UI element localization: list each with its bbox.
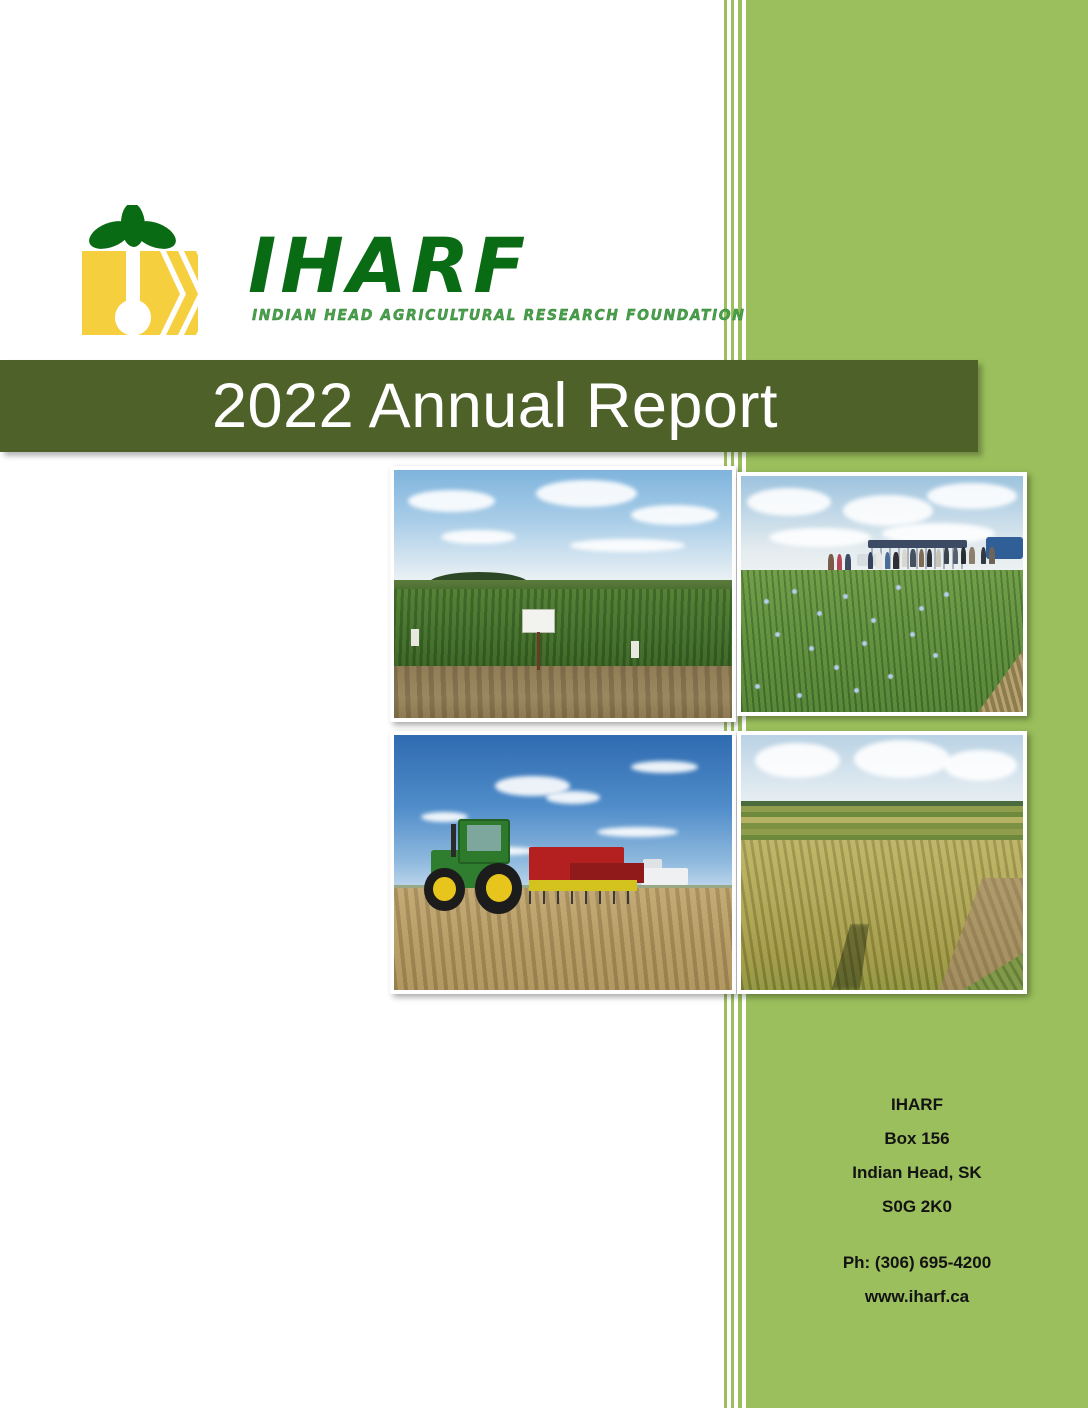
contact-city-province: Indian Head, SK: [760, 1156, 1074, 1190]
contact-postal-code: S0G 2K0: [760, 1190, 1074, 1224]
contact-spacer: [760, 1224, 1074, 1246]
iharf-wordmark: IHARF: [248, 228, 529, 304]
iharf-tagline: INDIAN HEAD AGRICULTURAL RESEARCH FOUNDA…: [252, 306, 746, 324]
contact-block: IHARF Box 156 Indian Head, SK S0G 2K0 Ph…: [760, 1088, 1074, 1314]
contact-organization: IHARF: [760, 1088, 1074, 1122]
contact-po-box: Box 156: [760, 1122, 1074, 1156]
leaf-icon: [85, 205, 180, 254]
contact-website[interactable]: www.iharf.ca: [760, 1280, 1074, 1314]
iharf-logo: IHARF INDIAN HEAD AGRICULTURAL RESEARCH …: [70, 200, 670, 340]
photo-pea-plot-trial: [390, 466, 736, 722]
photo-flax-field-day: [737, 472, 1027, 716]
iharf-logo-mark-icon: [70, 205, 198, 337]
photo-tractor-seeder: [390, 731, 736, 994]
page-title: 2022 Annual Report: [212, 362, 812, 450]
iharf-wordmark-text: IHARF: [248, 228, 529, 304]
photo-ripening-cereal-plots: [737, 731, 1027, 994]
contact-phone: Ph: (306) 695-4200: [760, 1246, 1074, 1280]
